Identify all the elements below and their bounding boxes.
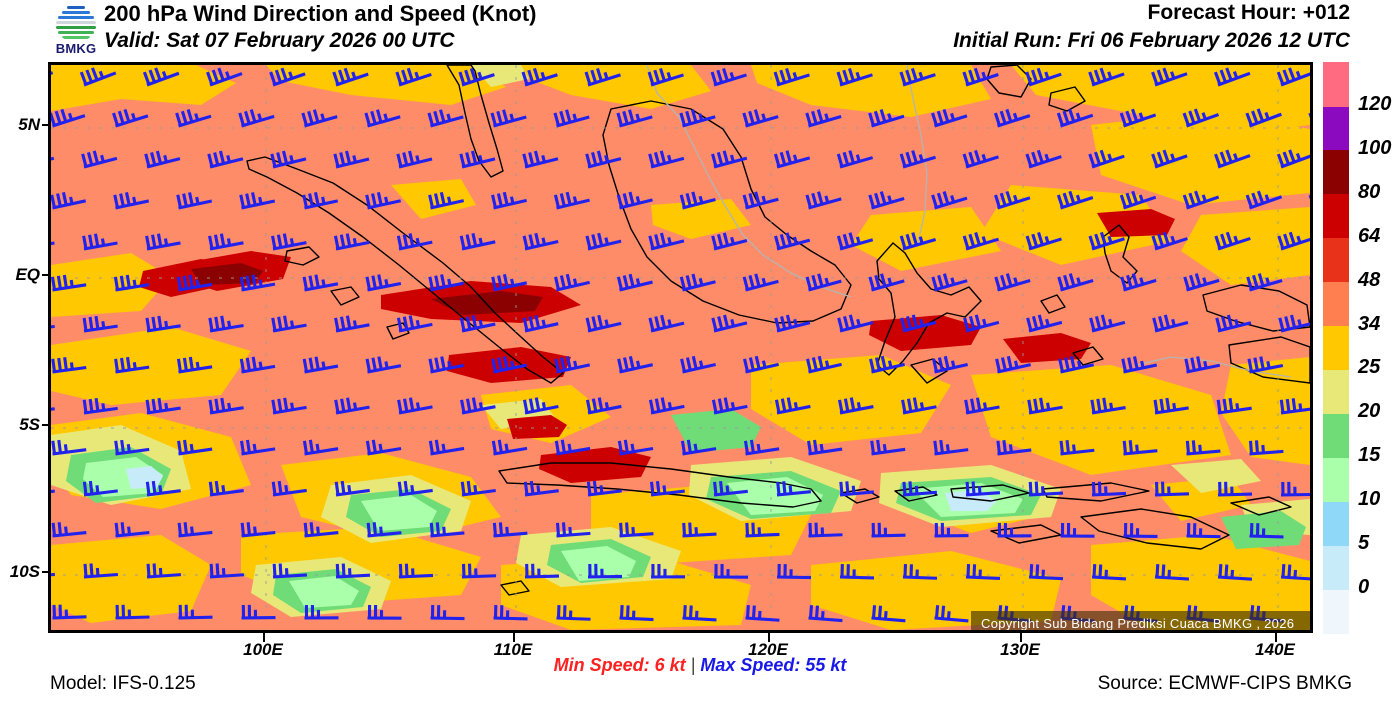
- y-axis-tick-5n: 5N: [0, 115, 40, 135]
- speed-range-label: Min Speed: 6 kt | Max Speed: 55 kt: [0, 655, 1400, 676]
- colorbar-tick-15: 15: [1358, 444, 1380, 467]
- colorbar-band: [1323, 150, 1349, 195]
- logo-disc: [54, 2, 98, 42]
- y-axis-tick-mark: [42, 424, 51, 426]
- colorbar-band: [1323, 457, 1349, 502]
- valid-time-label: Valid: Sat 07 February 2026 00 UTC: [104, 29, 455, 53]
- colorbar-band: [1323, 194, 1349, 239]
- wind-barb-overlay: [51, 65, 1310, 630]
- copyright-watermark: Copyright Sub Bidang Prediksi Cuaca BMKG…: [971, 611, 1313, 633]
- colorbar-tick-10: 10: [1358, 488, 1380, 511]
- x-axis-tick-mark: [263, 633, 265, 642]
- colorbar-band: [1323, 589, 1349, 634]
- colorbar-band: [1323, 545, 1349, 590]
- max-speed-label: Max Speed: 55 kt: [700, 655, 846, 675]
- colorbar-tick-64: 64: [1358, 225, 1380, 248]
- colorbar-band: [1323, 413, 1349, 458]
- bmkg-logo: BMKG: [48, 2, 104, 56]
- page-title: 200 hPa Wind Direction and Speed (Knot): [104, 1, 537, 27]
- x-axis-tick-mark: [1020, 633, 1022, 642]
- x-axis-tick-mark: [513, 633, 515, 642]
- min-speed-label: Min Speed: 6 kt: [554, 655, 686, 675]
- colorbar-tick-0: 0: [1358, 576, 1369, 599]
- y-axis-tick-eq: EQ: [0, 265, 40, 285]
- y-axis-tick-5s: 5S: [0, 415, 40, 435]
- model-label: Model: IFS-0.125: [50, 673, 196, 695]
- colorbar-band: [1323, 106, 1349, 151]
- x-axis-tick-mark: [768, 633, 770, 642]
- colorbar-tick-25: 25: [1358, 356, 1380, 379]
- colorbar: [1323, 62, 1349, 633]
- colorbar-tick-100: 100: [1358, 137, 1391, 160]
- colorbar-band: [1323, 282, 1349, 327]
- colorbar-band: [1323, 369, 1349, 414]
- colorbar-band: [1323, 62, 1349, 107]
- colorbar-tick-20: 20: [1358, 400, 1380, 423]
- y-axis-tick-mark: [42, 124, 51, 126]
- map-plot-area[interactable]: Copyright Sub Bidang Prediksi Cuaca BMKG…: [48, 62, 1313, 633]
- header-bar: BMKG 200 hPa Wind Direction and Speed (K…: [0, 0, 1400, 58]
- logo-label: BMKG: [48, 41, 104, 56]
- colorbar-band: [1323, 238, 1349, 283]
- y-axis-tick-mark: [42, 571, 51, 573]
- y-axis-tick-mark: [42, 274, 51, 276]
- speed-separator: |: [691, 655, 696, 675]
- colorbar-tick-80: 80: [1358, 181, 1380, 204]
- colorbar-band: [1323, 326, 1349, 371]
- source-label: Source: ECMWF-CIPS BMKG: [1098, 673, 1352, 695]
- colorbar-tick-120: 120: [1358, 93, 1391, 116]
- initial-run-label: Initial Run: Fri 06 February 2026 12 UTC: [953, 29, 1350, 53]
- colorbar-tick-48: 48: [1358, 269, 1380, 292]
- y-axis-tick-10s: 10S: [0, 562, 40, 582]
- colorbar-band: [1323, 501, 1349, 546]
- forecast-hour-label: Forecast Hour: +012: [1148, 1, 1351, 25]
- x-axis-tick-mark: [1275, 633, 1277, 642]
- colorbar-tick-34: 34: [1358, 313, 1380, 336]
- colorbar-tick-5: 5: [1358, 532, 1369, 555]
